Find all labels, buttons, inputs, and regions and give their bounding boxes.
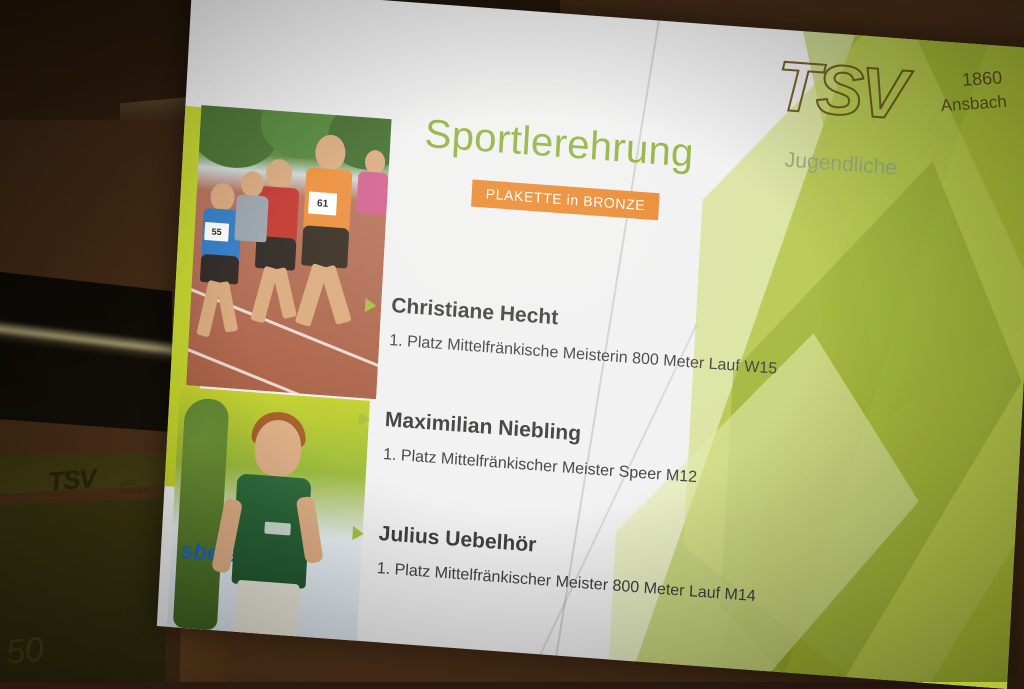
presentation-slide: TSV 1860 Ansbach xyxy=(157,0,1024,689)
photo-race-800m: 61 55 xyxy=(186,105,391,399)
bullet-triangle-icon xyxy=(365,298,377,313)
bib-number-secondary: 55 xyxy=(204,222,229,242)
tsv-logo-city: Ansbach xyxy=(940,92,1008,116)
runner-shorts xyxy=(235,580,300,641)
projection-screen: TSV 1860 Ansbach xyxy=(0,0,1024,682)
slide-title: Sportlerehrung xyxy=(424,112,695,177)
award-entry: Julius Uebelhör 1. Platz Mittelfränkisch… xyxy=(350,520,993,623)
bullet-triangle-icon xyxy=(352,526,364,541)
bib-number-primary: 61 xyxy=(308,191,337,215)
photo-young-runner: sbe en Hau xyxy=(166,387,370,651)
award-entry: Maximilian Niebling 1. Platz Mittelfränk… xyxy=(357,406,1000,509)
bullet-triangle-icon xyxy=(359,412,371,427)
tsv-logo-mark: TSV xyxy=(775,46,907,135)
runner-shirt-logo xyxy=(264,522,291,536)
tsv-logo: TSV 1860 Ansbach xyxy=(774,44,1009,153)
award-entry-list: Christiane Hecht 1. Platz Mittelfränkisc… xyxy=(347,292,1006,681)
tsv-logo-year: 1860 xyxy=(961,67,1003,91)
